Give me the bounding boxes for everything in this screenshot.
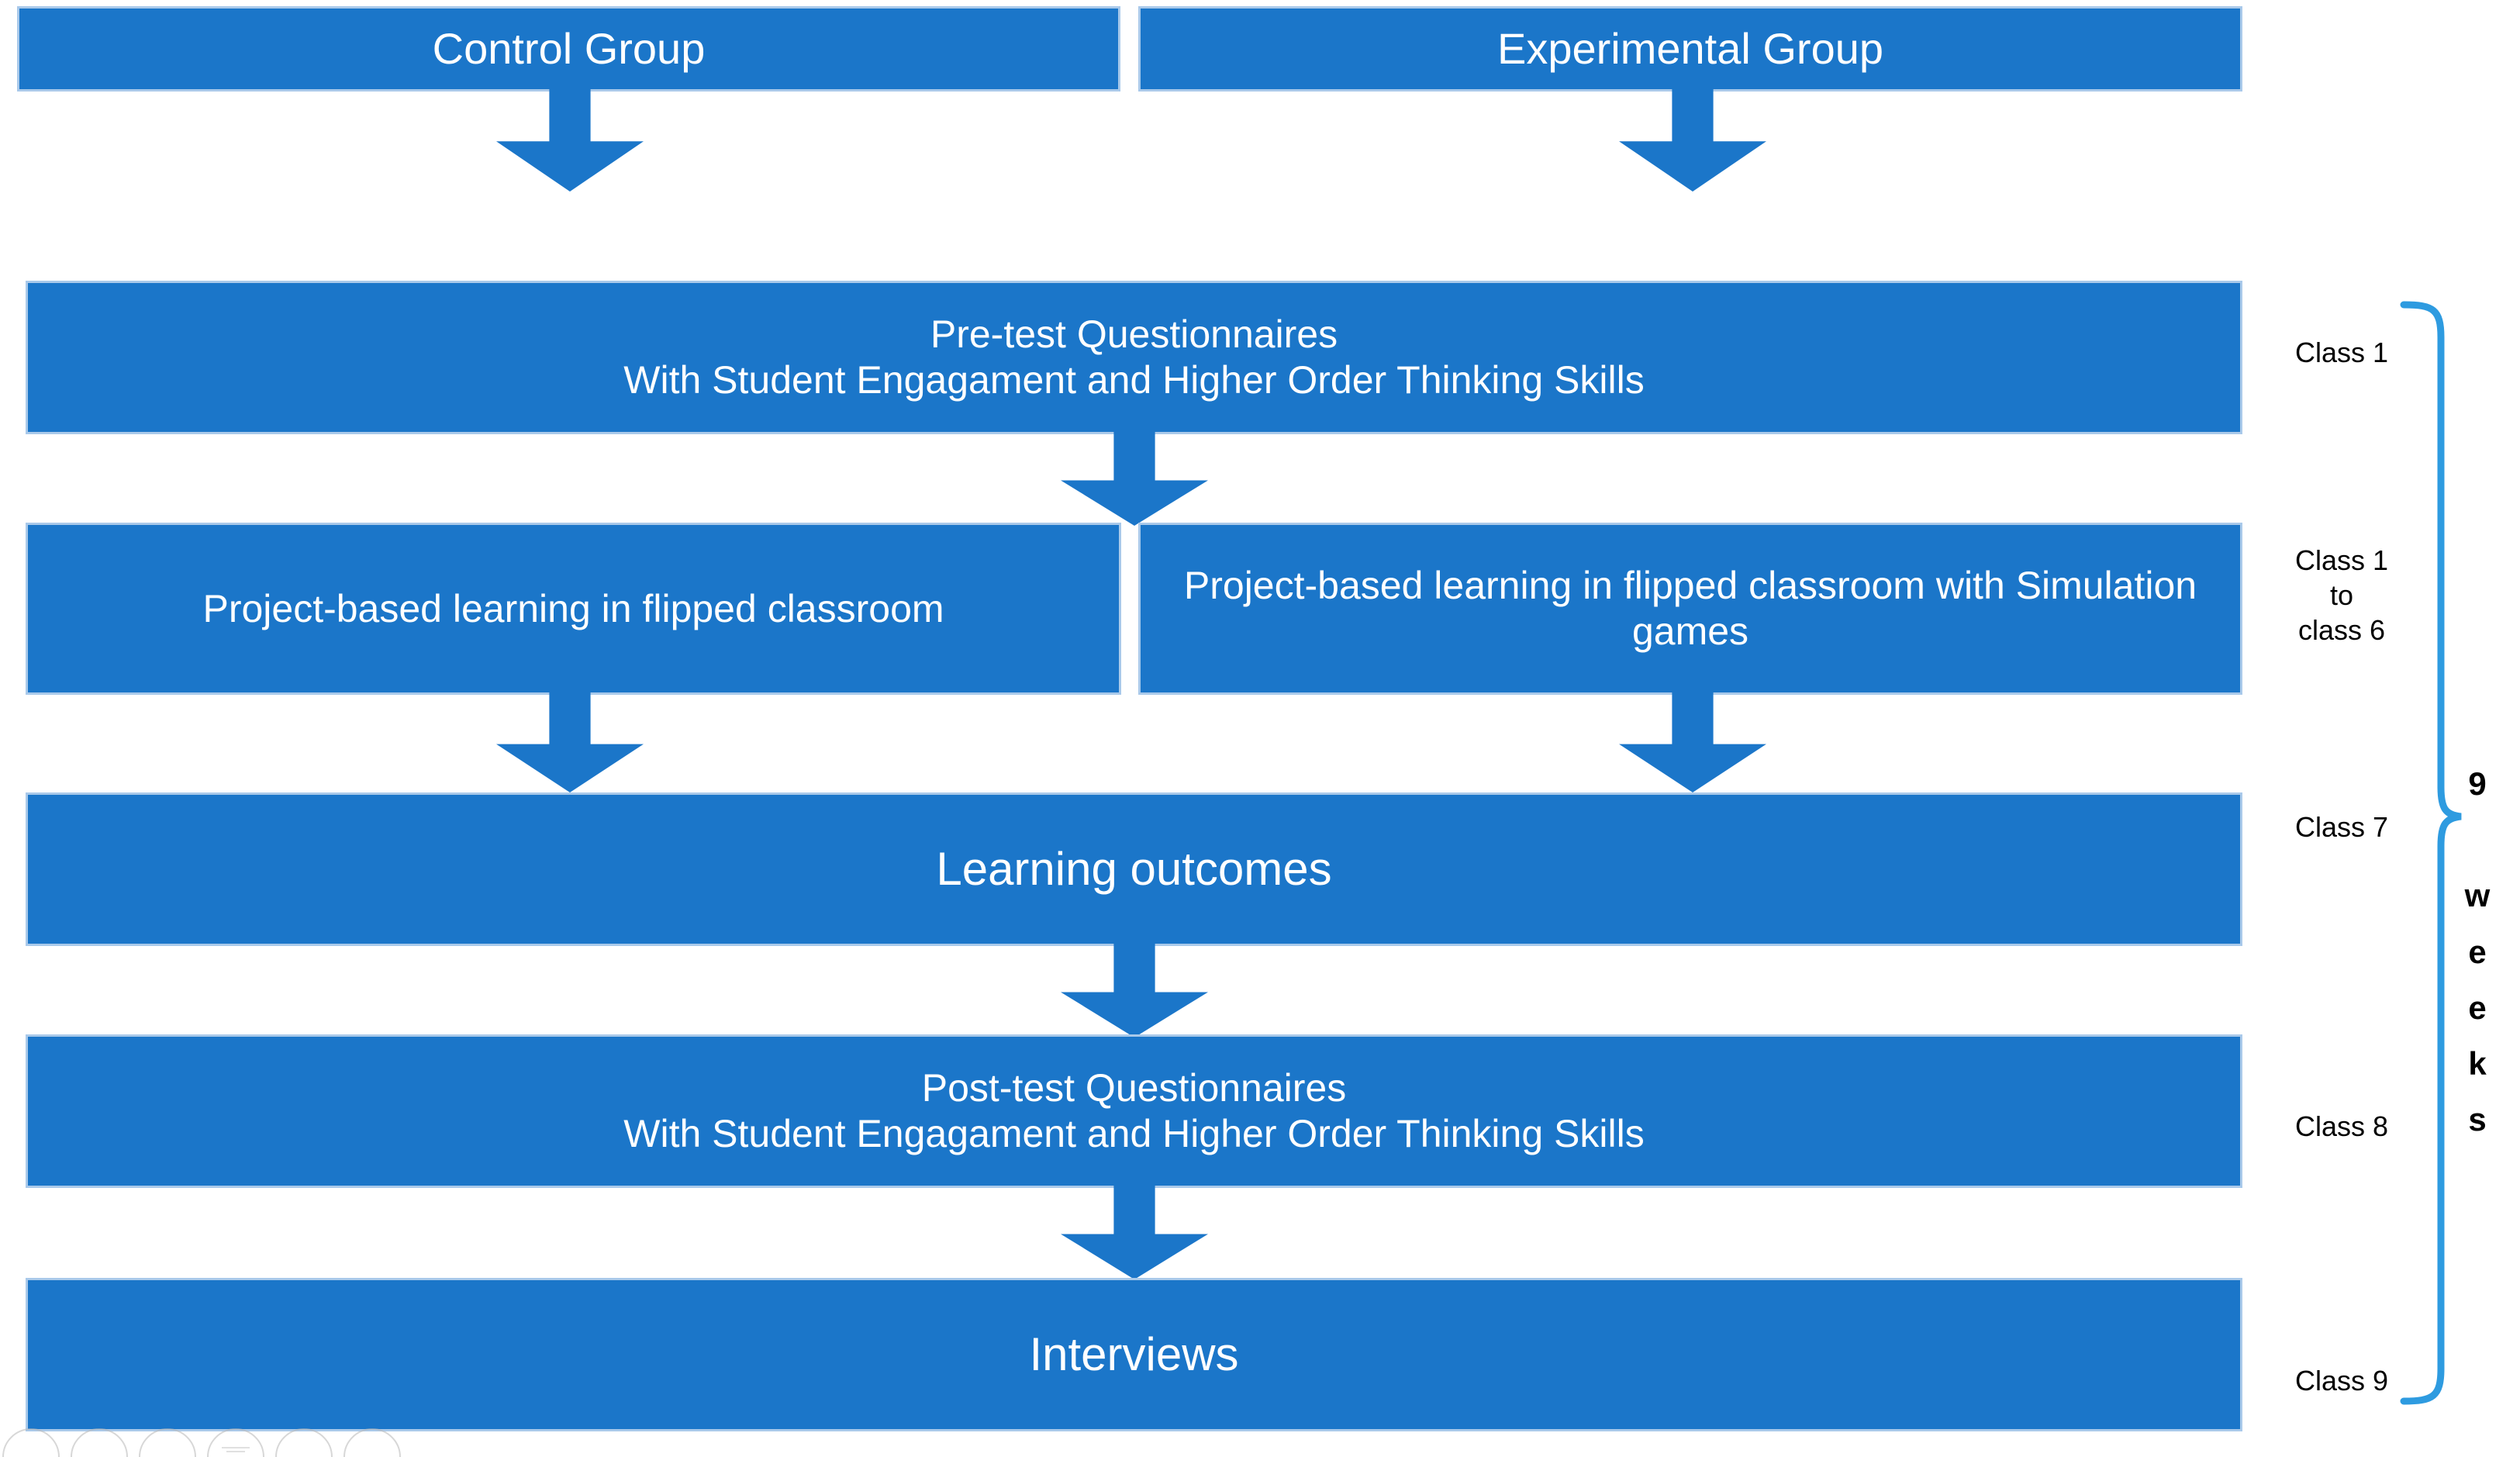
node-intervention-experimental-label: Project-based learning in flipped classr… [1141,563,2240,654]
node-posttest-label: Post-test Questionnaires With Student En… [28,1065,2240,1157]
arrow-experimental-intervention-to-outcomes [1619,692,1766,792]
arrow-pretest-to-interventions [1061,431,1208,526]
arrow-posttest-to-interviews [1061,1185,1208,1279]
timeline-label-class-7: Class 7 [2264,810,2419,844]
node-intervention-control: Project-based learning in flipped classr… [26,523,1121,695]
flowchart-canvas: Control Group Experimental Group Pre-tes… [0,0,2520,1457]
node-control-group-label: Control Group [19,23,1118,74]
node-experimental-group: Experimental Group [1138,6,2242,91]
node-interviews-label: Interviews [28,1328,2240,1383]
arrow-experimental-to-pretest [1619,87,1766,192]
node-learning-outcomes-label: Learning outcomes [28,842,2240,897]
arrow-control-to-pretest [496,87,644,192]
timeline-label-class-8: Class 8 [2264,1109,2419,1144]
arrow-outcomes-to-posttest [1061,943,1208,1038]
timeline-label-class-9: Class 9 [2264,1363,2419,1398]
node-posttest: Post-test Questionnaires With Student En… [26,1034,2242,1188]
node-pretest: Pre-test Questionnaires With Student Eng… [26,281,2242,434]
timeline-duration-label: 9 w e e k s [2442,756,2512,1148]
node-experimental-group-label: Experimental Group [1141,23,2240,74]
node-interviews: Interviews [26,1278,2242,1431]
timeline-label-class-1-to-6: Class 1 to class 6 [2264,543,2419,647]
node-control-group: Control Group [17,6,1120,91]
node-pretest-label: Pre-test Questionnaires With Student Eng… [28,312,2240,403]
node-learning-outcomes: Learning outcomes [26,792,2242,946]
arrow-control-intervention-to-outcomes [496,692,644,792]
node-intervention-control-label: Project-based learning in flipped classr… [28,586,1119,632]
timeline-label-class-1: Class 1 [2264,335,2419,370]
node-intervention-experimental: Project-based learning in flipped classr… [1138,523,2242,695]
